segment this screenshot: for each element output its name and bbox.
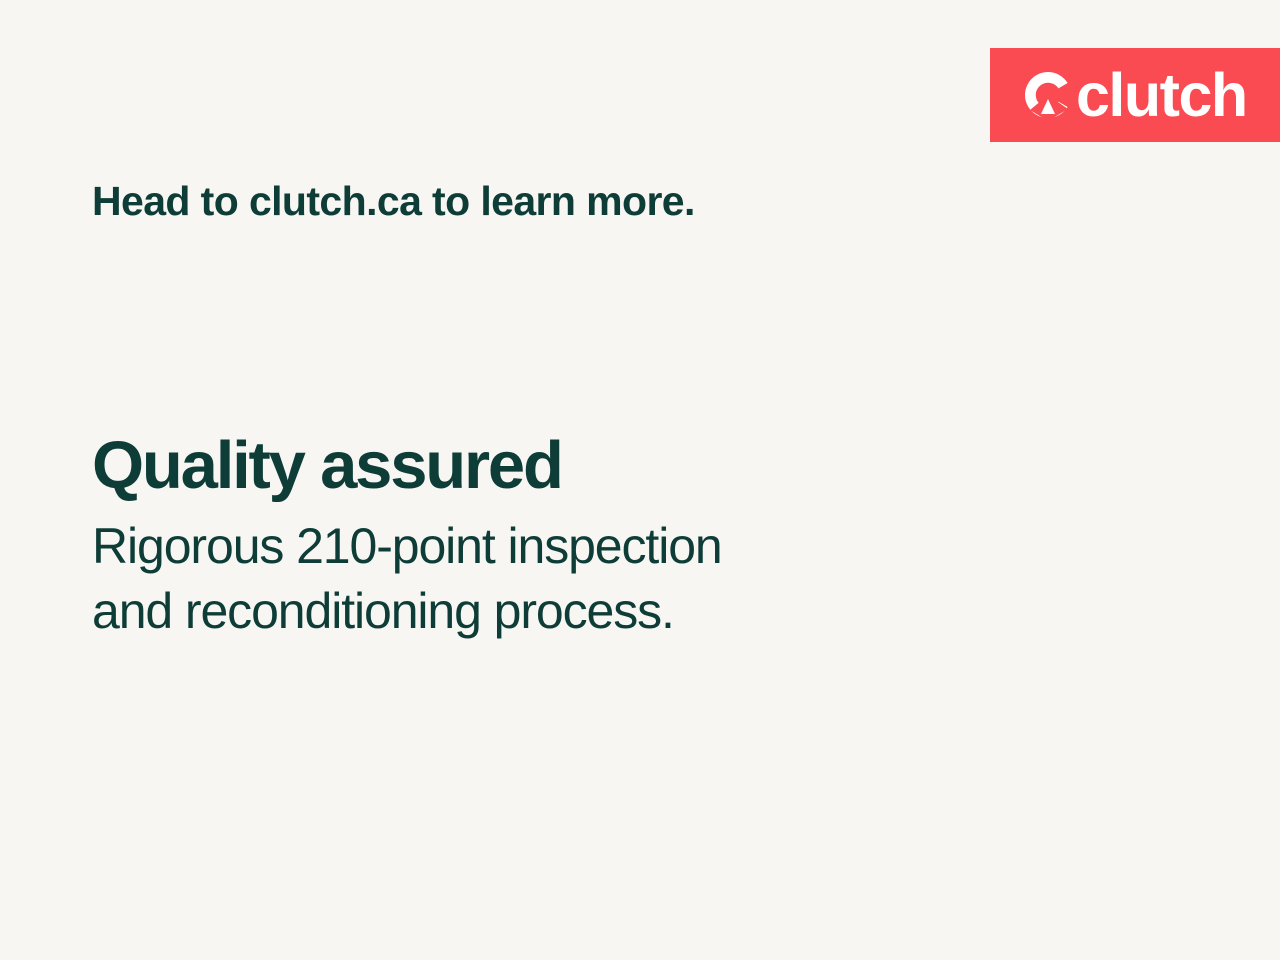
clutch-wordmark: clutch <box>1076 65 1247 126</box>
clutch-c-mark-icon <box>1022 69 1074 121</box>
subline: Rigorous 210-point inspection and recond… <box>92 514 992 644</box>
message-block: Quality assured Rigorous 210-point inspe… <box>92 432 992 644</box>
subline-row-2: and reconditioning process. <box>92 579 992 644</box>
lead-in-text: Head to clutch.ca to learn more. <box>92 178 695 225</box>
logo-lockup: clutch <box>1022 65 1247 126</box>
clutch-logo-badge[interactable]: clutch <box>990 48 1280 142</box>
subline-row-1: Rigorous 210-point inspection <box>92 514 992 579</box>
slide-canvas: clutch Head to clutch.ca to learn more. … <box>0 0 1280 960</box>
headline: Quality assured <box>92 432 992 500</box>
